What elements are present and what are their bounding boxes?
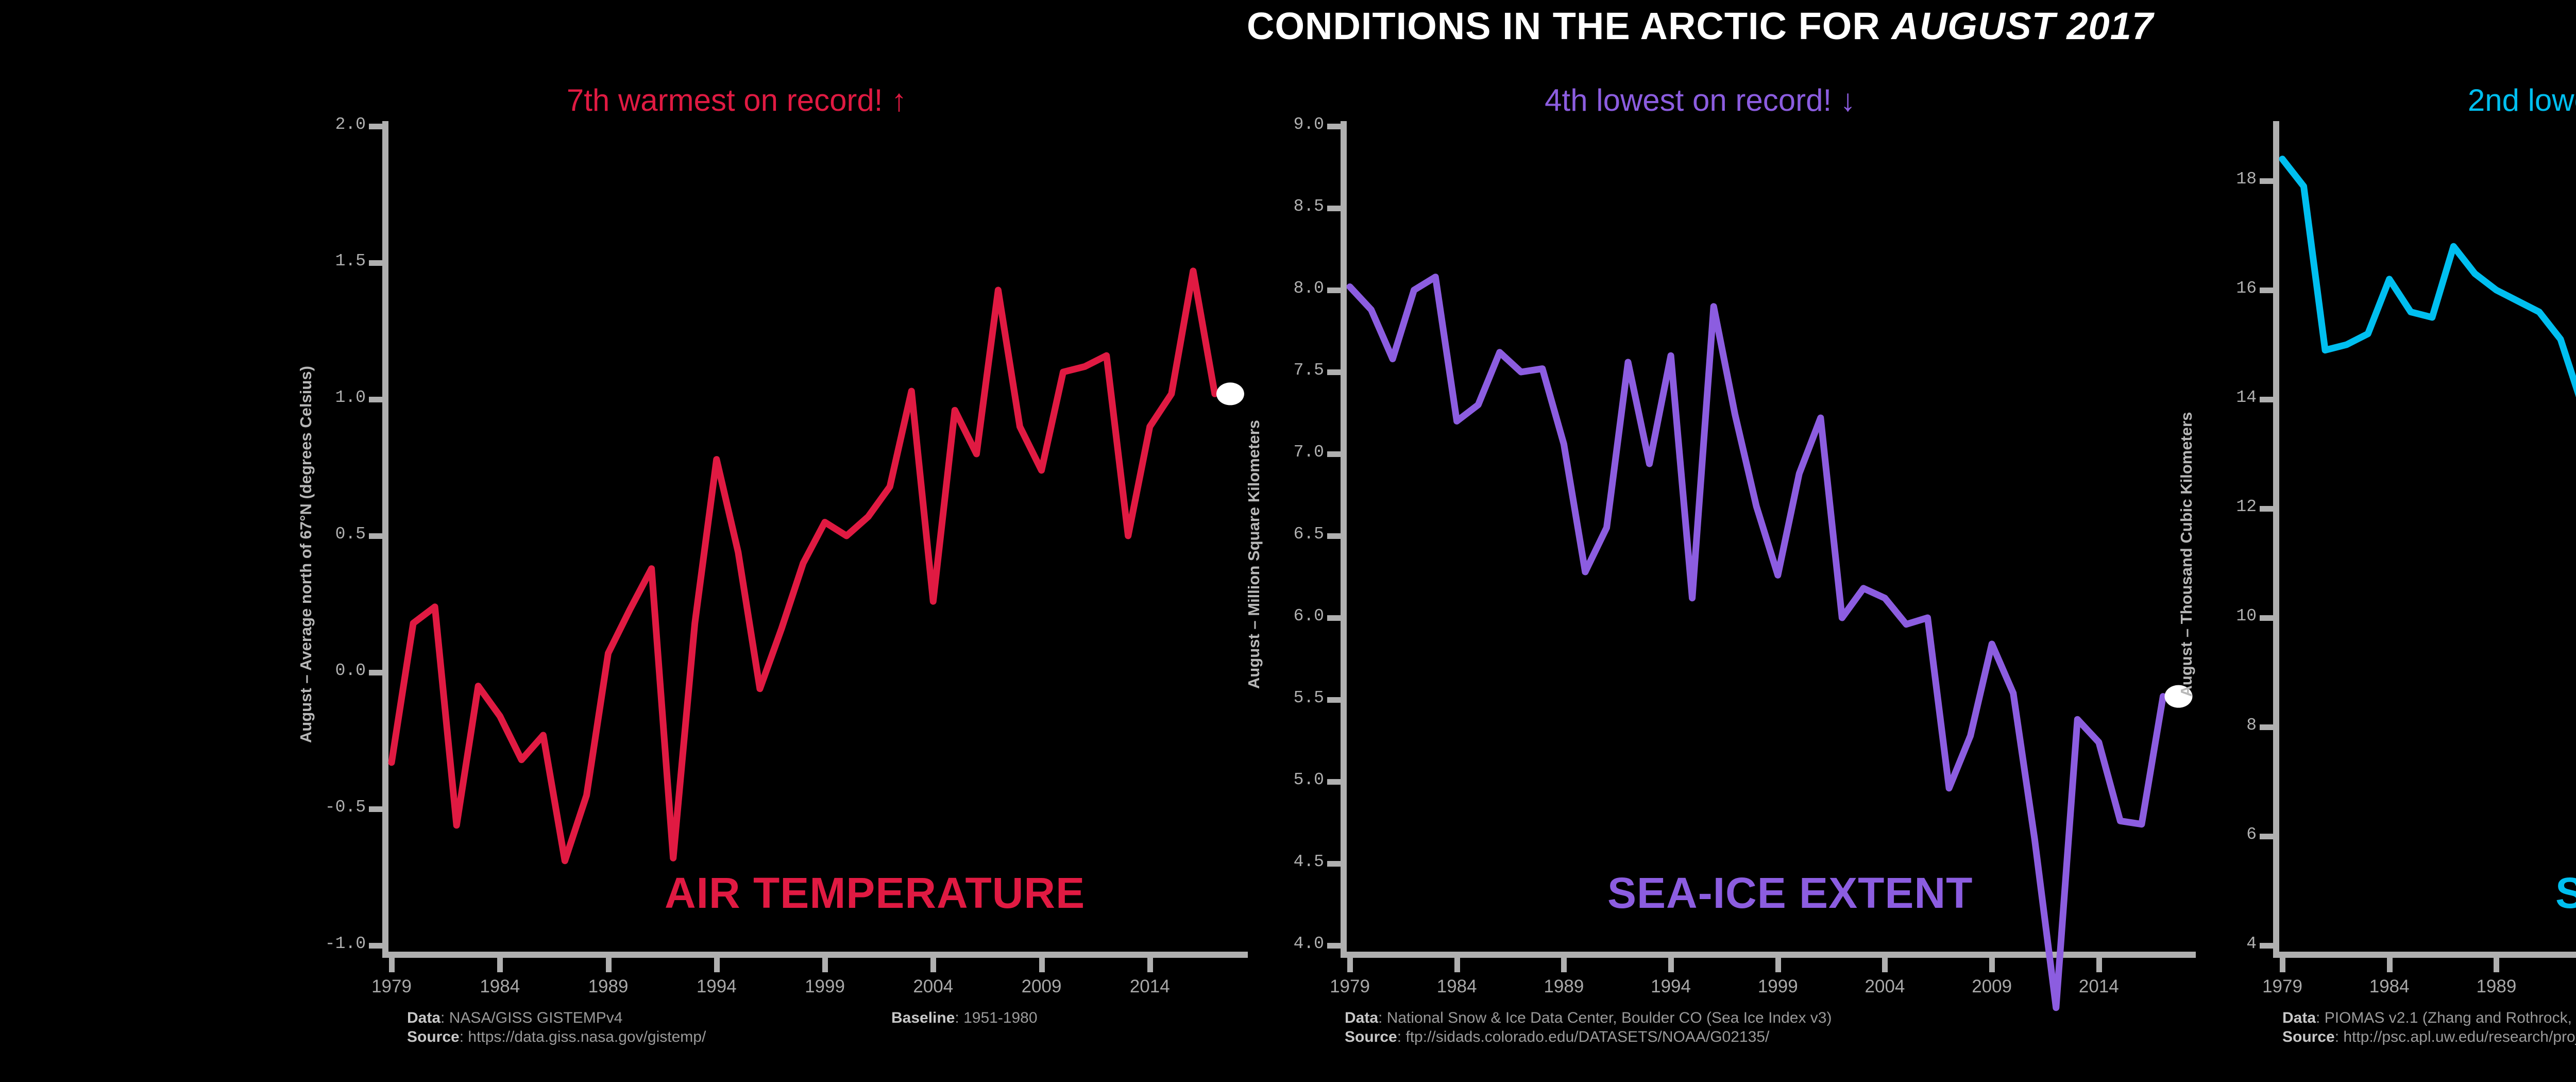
x-tick-label: 2014: [2037, 976, 2161, 997]
x-tick-label: 1984: [438, 976, 562, 997]
footer-data-line: Data: PIOMAS v2.1 (Zhang and Rothrock, 2…: [2282, 1009, 2576, 1028]
series-big-label-air-temperature: AIR TEMPERATURE: [665, 868, 1085, 918]
x-tick-label: 2004: [871, 976, 995, 997]
y-tick-label: 8: [2164, 716, 2257, 735]
y-axis-label-sea-ice-extent: August – Million Square Kilometers: [1245, 145, 1263, 964]
y-tick-mark: [2260, 724, 2274, 730]
y-tick-label: -1.0: [273, 934, 366, 953]
x-tick-label: 1999: [763, 976, 887, 997]
x-tick-mark: [1775, 958, 1781, 972]
x-tick-label: 2004: [1823, 976, 1946, 997]
y-tick-label: 7.5: [1231, 361, 1324, 380]
y-tick-mark: [1327, 288, 1342, 293]
x-tick-mark: [1668, 958, 1674, 972]
y-tick-label: 10: [2164, 606, 2257, 625]
y-tick-label: 6: [2164, 825, 2257, 844]
y-tick-mark: [369, 533, 383, 539]
y-tick-label: 16: [2164, 279, 2257, 298]
x-axis-spine-air-temperature: [382, 952, 1248, 958]
panel-subtitle-sea-ice-volume: 2nd lowest on record! ↓: [2164, 82, 2576, 118]
footer-source-key: Source: [407, 1028, 460, 1045]
x-tick-mark: [714, 958, 720, 972]
footer-data-value: : NASA/GISS GISTEMPv4: [440, 1009, 622, 1026]
x-tick-mark: [497, 958, 503, 972]
x-tick-label: 1979: [2221, 976, 2344, 997]
y-tick-label: 18: [2164, 170, 2257, 189]
y-tick-label: 0.5: [273, 525, 366, 544]
x-tick-mark: [606, 958, 612, 972]
y-tick-mark: [2260, 615, 2274, 621]
footer-data-value: : PIOMAS v2.1 (Zhang and Rothrock, 2003;…: [2316, 1009, 2576, 1026]
y-tick-label: 1.0: [273, 388, 366, 407]
y-tick-mark: [2260, 834, 2274, 839]
y-tick-label: 9.0: [1231, 115, 1324, 134]
y-tick-mark: [369, 670, 383, 675]
y-tick-mark: [2260, 943, 2274, 949]
panel-subtitle-sea-ice-extent: 4th lowest on record! ↓: [1236, 82, 2164, 118]
footer-source-line: Source: http://psc.apl.uw.edu/research/p…: [2282, 1028, 2576, 1047]
y-tick-label: 2.0: [273, 115, 366, 134]
panel-footer-sea-ice-volume: Data: PIOMAS v2.1 (Zhang and Rothrock, 2…: [2282, 1009, 2576, 1046]
x-tick-mark: [2387, 958, 2393, 972]
footer-baseline-key: Baseline: [891, 1009, 955, 1026]
x-tick-mark: [1147, 958, 1153, 972]
y-tick-mark: [1327, 533, 1342, 539]
panel-footer-sea-ice-extent: Data: National Snow & Ice Data Center, B…: [1345, 1009, 1832, 1046]
x-tick-mark: [1454, 958, 1460, 972]
y-tick-label: 8.5: [1231, 197, 1324, 216]
x-tick-mark: [1347, 958, 1353, 972]
y-tick-mark: [369, 806, 383, 812]
x-tick-mark: [389, 958, 395, 972]
y-tick-label: 12: [2164, 497, 2257, 516]
page-title: CONDITIONS IN THE ARCTIC FOR AUGUST 2017: [0, 4, 2576, 48]
x-axis-spine-sea-ice-extent: [1341, 952, 2196, 958]
x-tick-mark: [930, 958, 936, 972]
y-tick-mark: [2260, 506, 2274, 512]
x-tick-mark: [1561, 958, 1567, 972]
x-tick-label: 1989: [547, 976, 670, 997]
x-axis-spine-sea-ice-volume: [2273, 952, 2576, 958]
y-tick-label: 5.5: [1231, 688, 1324, 707]
panel-subtitle-air-temperature: 7th warmest on record! ↑: [273, 82, 1200, 118]
y-tick-mark: [369, 124, 383, 129]
x-tick-label: 2014: [1088, 976, 1212, 997]
footer-source-line: Source: ftp://sidads.colorado.edu/DATASE…: [1345, 1028, 1832, 1047]
x-tick-label: 1999: [1716, 976, 1840, 997]
x-tick-label: 1984: [2328, 976, 2451, 997]
y-tick-label: 14: [2164, 388, 2257, 407]
y-tick-label: 8.0: [1231, 279, 1324, 298]
y-tick-mark: [2260, 288, 2274, 293]
y-tick-label: 6.5: [1231, 525, 1324, 544]
footer-source-key: Source: [2282, 1028, 2335, 1045]
latest-value-marker: [1216, 382, 1244, 405]
footer-data-line: Data: National Snow & Ice Data Center, B…: [1345, 1009, 1832, 1028]
y-tick-mark: [1327, 615, 1342, 621]
y-tick-mark: [1327, 369, 1342, 375]
footer-data-key: Data: [2282, 1009, 2316, 1026]
footer-baseline-value: : 1951-1980: [955, 1009, 1037, 1026]
y-tick-label: 0.0: [273, 661, 366, 680]
x-tick-mark: [1989, 958, 1995, 972]
y-tick-mark: [1327, 861, 1342, 867]
x-tick-mark: [1039, 958, 1045, 972]
y-tick-label: 4.5: [1231, 852, 1324, 871]
footer-source-value: : https://data.giss.nasa.gov/gistemp/: [460, 1028, 706, 1045]
x-tick-label: 1984: [1395, 976, 1519, 997]
y-tick-label: 5.0: [1231, 770, 1324, 789]
y-tick-label: 6.0: [1231, 606, 1324, 625]
x-tick-label: 2009: [980, 976, 1104, 997]
y-tick-mark: [1327, 943, 1342, 949]
x-tick-label: 1994: [2541, 976, 2576, 997]
footer-source-value: : ftp://sidads.colorado.edu/DATASETS/NOA…: [1397, 1028, 1770, 1045]
footer-data-key: Data: [407, 1009, 440, 1026]
y-tick-mark: [1327, 451, 1342, 457]
x-tick-label: 1994: [655, 976, 778, 997]
x-tick-label: 1989: [2434, 976, 2558, 997]
y-tick-label: 7.0: [1231, 443, 1324, 462]
x-tick-mark: [2494, 958, 2499, 972]
x-tick-label: 1979: [1288, 976, 1412, 997]
page-title-main: CONDITIONS IN THE ARCTIC FOR: [1247, 5, 1891, 47]
x-tick-mark: [822, 958, 828, 972]
x-tick-label: 1989: [1502, 976, 1625, 997]
arctic-conditions-infographic: CONDITIONS IN THE ARCTIC FOR AUGUST 2017…: [0, 0, 2576, 1082]
x-tick-mark: [2096, 958, 2102, 972]
footer-source-line: Source: https://data.giss.nasa.gov/giste…: [407, 1028, 706, 1047]
y-tick-mark: [1327, 697, 1342, 703]
x-tick-label: 1979: [330, 976, 453, 997]
y-tick-mark: [369, 943, 383, 949]
footer-data-key: Data: [1345, 1009, 1378, 1026]
page-title-emphasis: AUGUST 2017: [1891, 5, 2154, 47]
y-tick-mark: [369, 260, 383, 266]
y-tick-mark: [1327, 779, 1342, 785]
y-tick-label: 1.5: [273, 251, 366, 270]
y-tick-label: 4: [2164, 934, 2257, 953]
y-tick-mark: [2260, 178, 2274, 184]
x-tick-mark: [2280, 958, 2285, 972]
x-tick-mark: [1882, 958, 1888, 972]
x-tick-label: 2009: [1930, 976, 2054, 997]
y-tick-mark: [2260, 397, 2274, 402]
footer-data-value: : National Snow & Ice Data Center, Bould…: [1378, 1009, 1832, 1026]
y-tick-mark: [1327, 124, 1342, 129]
x-tick-label: 1994: [1609, 976, 1733, 997]
footer-baseline: Baseline: 1951-1980: [891, 1009, 1038, 1028]
series-big-label-sea-ice-extent: SEA-ICE EXTENT: [1607, 868, 1973, 918]
y-tick-label: 4.0: [1231, 934, 1324, 953]
footer-source-key: Source: [1345, 1028, 1397, 1045]
y-axis-spine-sea-ice-volume: [2273, 121, 2279, 952]
series-big-label-sea-ice-volume: SEA-ICE VOLUME: [2555, 868, 2576, 918]
y-tick-label: -0.5: [273, 798, 366, 817]
y-tick-mark: [369, 397, 383, 402]
y-tick-mark: [1327, 206, 1342, 211]
panel-footer-air-temperature: Data: NASA/GISS GISTEMPv4Baseline: 1951-…: [407, 1009, 706, 1046]
footer-source-value: : http://psc.apl.uw.edu/research/project…: [2335, 1028, 2576, 1045]
footer-data-line: Data: NASA/GISS GISTEMPv4Baseline: 1951-…: [407, 1009, 706, 1028]
